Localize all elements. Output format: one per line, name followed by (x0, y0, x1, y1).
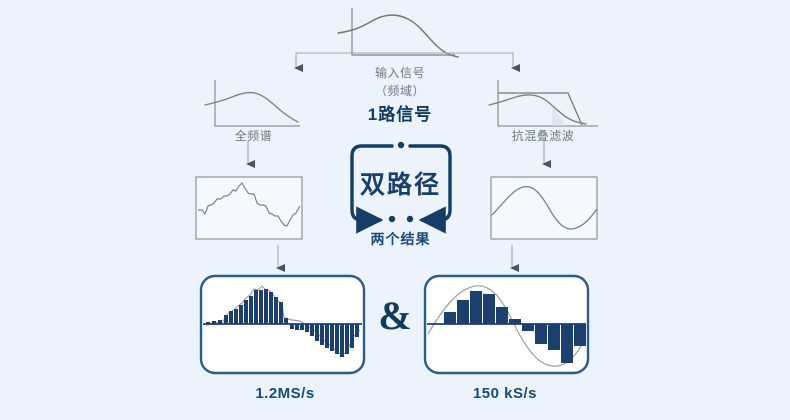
chart-midbox-left-noisy (196, 177, 302, 239)
badge-subtitle-two-results: 两个结果 (348, 229, 453, 249)
chart-anti-alias-filter (489, 80, 598, 126)
chart-label-full-spectrum: 全频谱 (196, 127, 311, 144)
chart-result-high-rate (201, 276, 364, 373)
chart-result-low-rate (425, 276, 588, 373)
diagram-graphics (0, 0, 790, 420)
diagram-canvas: 输入信号 （频域） 1路信号 全频谱 抗混叠滤波 双路径 两个结果 & 1.2M… (0, 0, 790, 420)
rate-label-high: 1.2MS/s (215, 385, 355, 402)
rate-label-low: 150 kS/s (435, 385, 575, 402)
badge-title-dual-path: 双路径 (348, 165, 453, 201)
one-signal-headline: 1路信号 (305, 100, 495, 125)
chart-full-spectrum (205, 80, 300, 126)
input-signal-caption-line1: 输入信号 (305, 64, 495, 81)
input-signal-caption-line2: （频域） (305, 82, 495, 99)
chart-input-signal (338, 8, 458, 57)
chart-midbox-right-sine (491, 177, 597, 239)
ampersand-symbol: & (372, 292, 418, 339)
chart-label-anti-alias-filter: 抗混叠滤波 (478, 127, 608, 144)
